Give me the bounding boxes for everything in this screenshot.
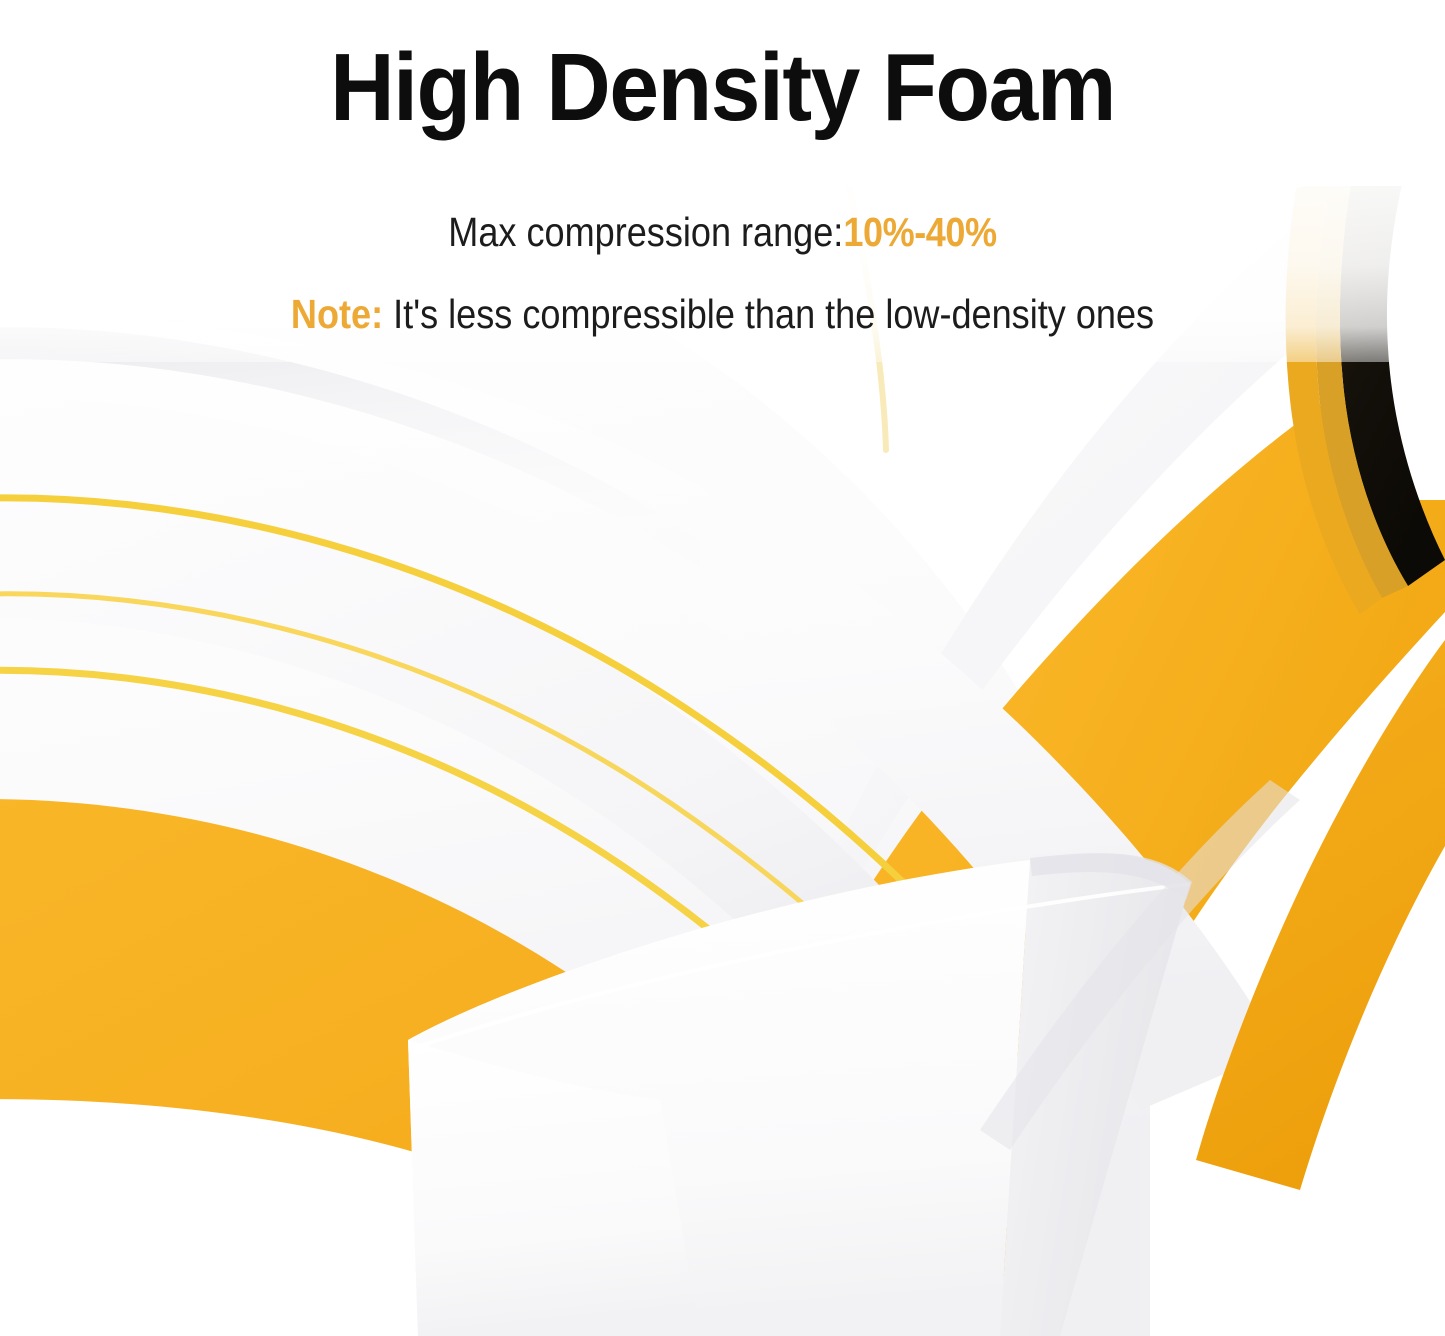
compression-range-value: 10%-40% <box>843 209 996 255</box>
note-text: It's less compressible than the low-dens… <box>393 291 1154 337</box>
page-title-text: High Density Foam <box>330 34 1115 141</box>
compression-range-label: Max compression range: <box>448 209 843 255</box>
note-line: Note: It's less compressible than the lo… <box>87 294 1359 335</box>
foam-product-photo <box>0 0 1445 1336</box>
note-label: Note: <box>291 291 383 337</box>
product-infographic: High Density Foam Max compression range:… <box>0 0 1445 1336</box>
page-title: High Density Foam <box>51 40 1395 136</box>
compression-range-line: Max compression range:10%-40% <box>87 212 1359 253</box>
